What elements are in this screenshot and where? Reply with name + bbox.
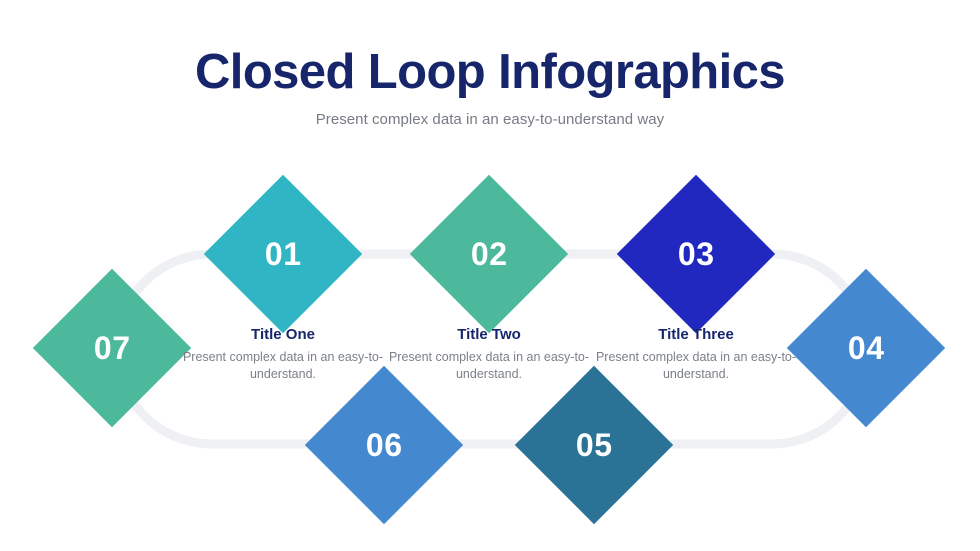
caption-block-three: Title Three Present complex data in an e… — [586, 326, 806, 383]
node-diamond-04[interactable]: 04 — [787, 269, 945, 427]
node-number-06: 06 — [366, 429, 403, 461]
caption-title-two: Title Two — [379, 326, 599, 344]
node-diamond-01[interactable]: 01 — [204, 175, 362, 333]
node-diamond-07[interactable]: 07 — [33, 269, 191, 427]
node-number-05: 05 — [576, 429, 613, 461]
page-title: Closed Loop Infographics — [0, 46, 980, 99]
node-diamond-03[interactable]: 03 — [617, 175, 775, 333]
caption-body-one: Present complex data in an easy-to-under… — [173, 349, 393, 383]
node-diamond-05[interactable]: 05 — [515, 366, 673, 524]
node-number-07: 07 — [94, 332, 131, 364]
node-diamond-02[interactable]: 02 — [410, 175, 568, 333]
caption-title-one: Title One — [173, 326, 393, 344]
infographic-slide: Closed Loop Infographics Present complex… — [0, 0, 980, 551]
caption-body-two: Present complex data in an easy-to-under… — [379, 349, 599, 383]
node-number-02: 02 — [471, 238, 508, 270]
slide-header: Closed Loop Infographics Present complex… — [0, 46, 980, 128]
caption-block-two: Title Two Present complex data in an eas… — [379, 326, 599, 383]
page-subtitle: Present complex data in an easy-to-under… — [0, 111, 980, 128]
node-number-04: 04 — [848, 332, 885, 364]
node-number-03: 03 — [678, 238, 715, 270]
caption-title-three: Title Three — [586, 326, 806, 344]
caption-body-three: Present complex data in an easy-to-under… — [586, 349, 806, 383]
node-number-01: 01 — [265, 238, 302, 270]
caption-block-one: Title One Present complex data in an eas… — [173, 326, 393, 383]
node-diamond-06[interactable]: 06 — [305, 366, 463, 524]
